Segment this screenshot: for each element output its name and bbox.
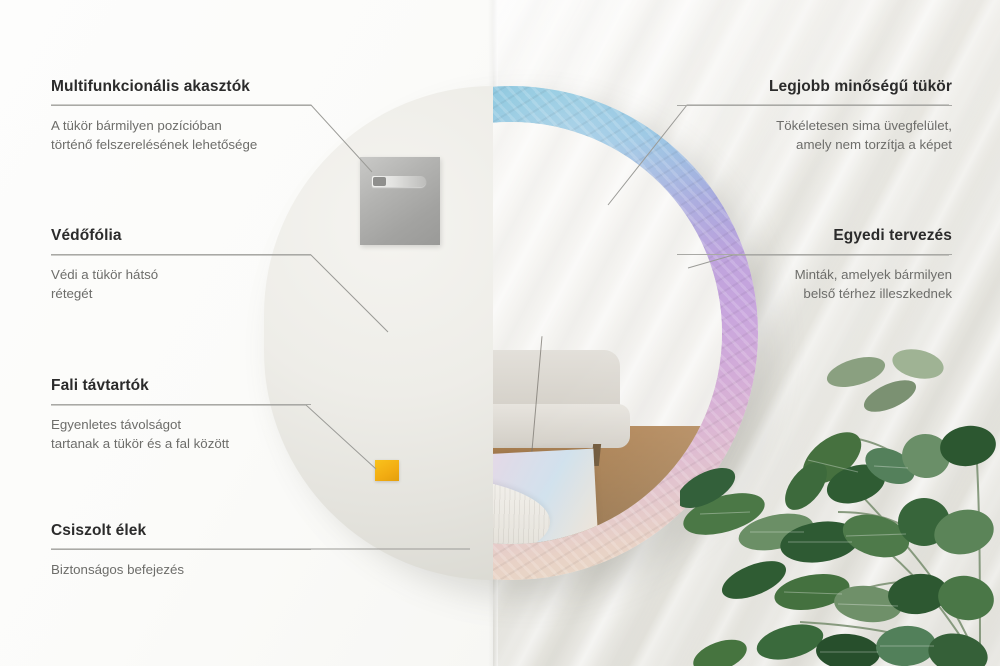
callout-description: Védi a tükör hátsó rétegét — [51, 266, 311, 304]
hanger-slot — [372, 176, 426, 187]
callout-hangers: Multifunkcionális akasztók A tükör bármi… — [51, 78, 311, 155]
callout-rule — [677, 254, 952, 255]
callout-title: Csiszolt élek — [51, 522, 311, 540]
callout-description: Tökéletesen sima üvegfelület, amely nem … — [677, 117, 952, 155]
callout-description: Egyenletes távolságot tartanak a tükör é… — [51, 416, 311, 454]
callout-protective-film: Védőfólia Védi a tükör hátsó rétegét — [51, 227, 311, 304]
callout-title: Multifunkcionális akasztók — [51, 78, 311, 96]
callout-rule — [51, 549, 311, 550]
round-mirror — [264, 86, 758, 580]
callout-wall-spacers: Fali távtartók Egyenletes távolságot tar… — [51, 377, 311, 454]
hanger-slot-hole — [373, 177, 386, 186]
callout-title: Legjobb minőségű tükör — [677, 78, 952, 96]
callout-polished-edges: Csiszolt élek Biztonságos befejezés — [51, 522, 311, 580]
wall-spacer-detail — [375, 460, 399, 481]
callout-rule — [677, 105, 952, 106]
callout-description: A tükör bármilyen pozícióban történő fel… — [51, 117, 311, 155]
callout-rule — [51, 254, 311, 255]
callout-title: Fali távtartók — [51, 377, 311, 395]
callout-rule — [51, 404, 311, 405]
hanger-plate-detail — [360, 157, 440, 245]
callout-description: Minták, amelyek bármilyen belső térhez i… — [677, 266, 952, 304]
callout-unique-design: Egyedi tervezés Minták, amelyek bármilye… — [677, 227, 952, 304]
callout-title: Egyedi tervezés — [677, 227, 952, 245]
callout-description: Biztonságos befejezés — [51, 561, 311, 580]
callout-title: Védőfólia — [51, 227, 311, 245]
callout-rule — [51, 105, 311, 106]
callout-best-quality-mirror: Legjobb minőségű tükör Tökéletesen sima … — [677, 78, 952, 155]
infographic-stage: Multifunkcionális akasztók A tükör bármi… — [0, 0, 1000, 666]
